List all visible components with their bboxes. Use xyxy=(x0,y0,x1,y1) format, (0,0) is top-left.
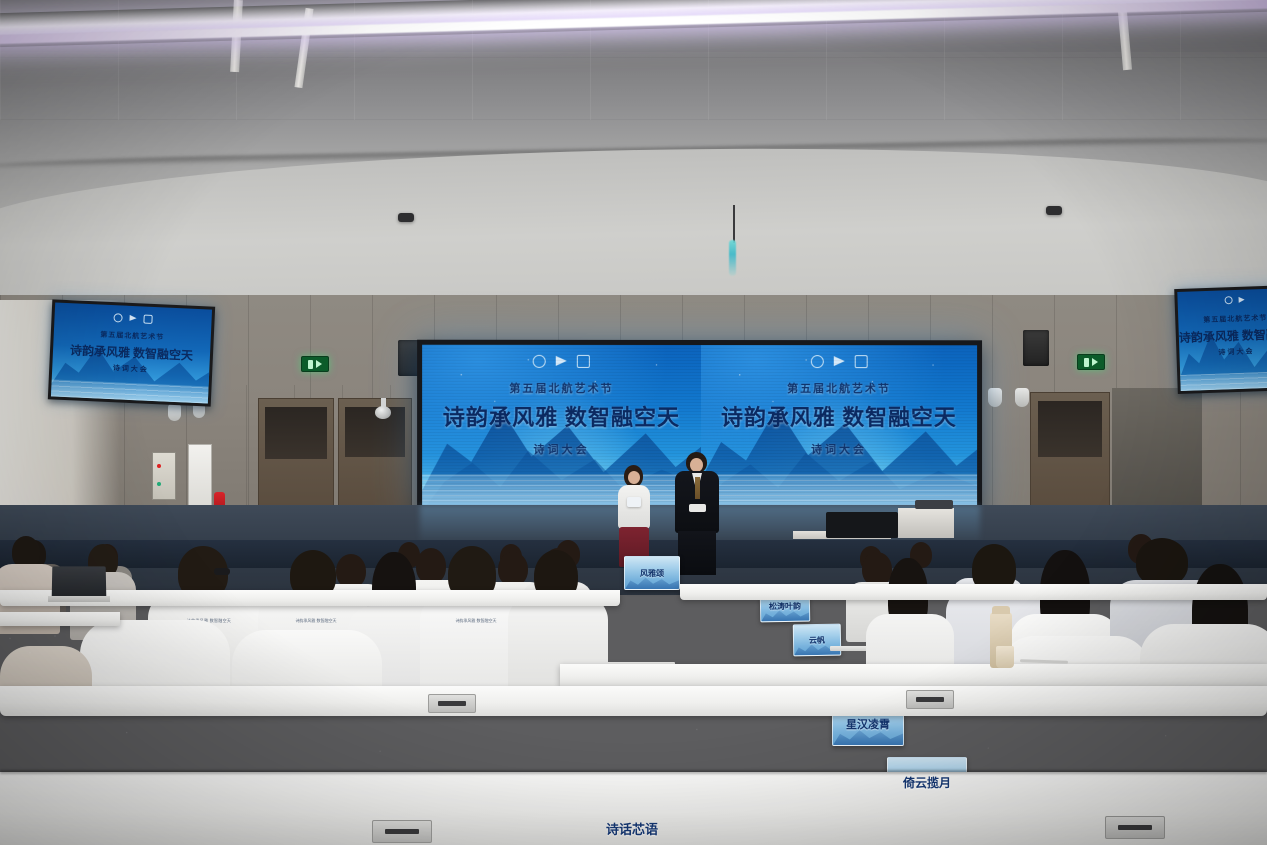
wall-whiteboard xyxy=(188,444,212,508)
eyeglasses-icon xyxy=(214,568,230,575)
door-left-glass xyxy=(265,407,327,459)
door-right-glass xyxy=(1038,401,1102,457)
wall-control-panel[interactable] xyxy=(152,452,176,500)
spotlight-3 xyxy=(168,404,181,421)
team-placard-3-text: 星汉凌霄 xyxy=(846,716,890,732)
paper-plane-logo-icon-3 xyxy=(129,315,136,321)
dome-camera-icon xyxy=(375,406,391,419)
power-port-module-2[interactable] xyxy=(906,690,954,709)
shirt-print: 诗韵承风雅 数智融空天 xyxy=(450,618,502,636)
ceiling-sensor-1 xyxy=(398,213,414,222)
ceiling xyxy=(0,0,1267,300)
right-monitor-water xyxy=(1180,371,1267,391)
circle-logo-icon-4 xyxy=(1224,296,1232,304)
host-male-face xyxy=(690,458,703,472)
main-screen-right-half: 第五届北航艺术节 诗韵承风雅 数智融空天 诗词大会 xyxy=(701,345,978,511)
screen-event-name-left: 诗词大会 xyxy=(422,441,700,457)
desk-row-1-front xyxy=(0,714,1267,776)
screen-logo-row-left xyxy=(422,355,700,368)
exit-arrow-icon xyxy=(316,360,322,368)
desk-row-3-right xyxy=(680,584,1267,600)
spotlight-2 xyxy=(1015,388,1029,407)
screen-slogan-right: 诗韵承风雅 数智融空天 xyxy=(701,400,978,432)
host-male-tie xyxy=(695,477,700,499)
speaker-right xyxy=(1023,330,1049,366)
team-placard-1-text: 诗话芯语 xyxy=(606,819,658,838)
paper-plane-logo-icon-2 xyxy=(834,357,845,367)
audience-head xyxy=(1136,538,1188,586)
team-placard-4-text: 倚云揽月 xyxy=(903,774,951,791)
desk-cup xyxy=(996,646,1014,668)
left-monitor-logos xyxy=(54,310,211,326)
main-screen-left-half: 第五届北航艺术节 诗韵承风雅 数智融空天 诗词大会 xyxy=(422,345,700,512)
desk-row-1-top xyxy=(0,686,1267,716)
thermos-cap xyxy=(992,606,1010,614)
badge-logo-icon xyxy=(577,355,590,368)
ceiling-hanging-cable xyxy=(733,205,735,243)
right-monitor-festival-line: 第五届北航艺术节 xyxy=(1178,312,1267,326)
badge-logo-icon-3 xyxy=(143,314,152,323)
right-monitor-panel: 第五届北航艺术节 诗韵承风雅 数智融空天 诗词大会 xyxy=(1177,288,1267,391)
team-placard-5-text: 风雅颂 xyxy=(640,568,664,579)
desk-row-2 xyxy=(560,664,1267,686)
power-port-module-3[interactable] xyxy=(372,820,432,843)
screen-festival-line-left: 第五届北航艺术节 xyxy=(422,380,700,396)
left-monitor-panel: 第五届北航艺术节 诗韵承风雅 数智融空天 诗词大会 xyxy=(51,302,212,403)
exit-sign-left xyxy=(301,356,329,372)
right-monitor-logos xyxy=(1178,294,1267,306)
screen-event-name-right: 诗词大会 xyxy=(701,441,978,457)
host-male-script-card xyxy=(689,504,706,512)
exit-sign-right xyxy=(1077,354,1105,370)
left-wall-monitor[interactable]: 第五届北航艺术节 诗韵承风雅 数智融空天 诗词大会 xyxy=(48,299,215,406)
desk-left-side-front xyxy=(0,624,100,672)
control-panel-led-red xyxy=(157,464,161,468)
power-port-module-4[interactable] xyxy=(1105,816,1165,839)
host-female-face xyxy=(628,471,640,484)
right-monitor-slogan: 诗韵承风雅 数智融空天 xyxy=(1179,325,1267,346)
circle-logo-icon-2 xyxy=(811,355,824,368)
power-port-module-1[interactable] xyxy=(428,694,476,713)
circle-logo-icon xyxy=(533,355,546,368)
host-female-script-card xyxy=(627,497,641,507)
right-wall-monitor[interactable]: 第五届北航艺术节 诗韵承风雅 数智融空天 诗词大会 xyxy=(1174,285,1267,394)
screen-logo-row-right xyxy=(701,355,978,368)
auditorium-scene: 第五届北航艺术节 诗韵承风雅 数智融空天 诗词大会 第五届北航艺术节 诗韵承风雅… xyxy=(0,0,1267,845)
spotlight-1 xyxy=(988,388,1002,407)
equipment-monitor xyxy=(915,500,953,509)
right-monitor-event-name: 诗词大会 xyxy=(1179,345,1267,359)
desk-row-0-shadow xyxy=(0,770,1267,774)
paper-plane-logo-icon xyxy=(556,356,567,366)
circle-logo-icon-3 xyxy=(113,313,122,322)
exit-arrow-icon-2 xyxy=(1092,358,1098,366)
badge-logo-icon-2 xyxy=(854,355,867,368)
laptop-base xyxy=(48,596,110,602)
screen-slogan-left: 诗韵承风雅 数智融空天 xyxy=(422,400,700,432)
paper-plane-logo-icon-4 xyxy=(1239,297,1245,303)
ceiling-hanging-ribbon xyxy=(729,240,736,276)
ceiling-sensor-2 xyxy=(1046,206,1062,215)
screen-festival-line-right: 第五届北航艺术节 xyxy=(701,380,978,396)
control-panel-led-green xyxy=(157,482,161,486)
exit-running-man-icon-2 xyxy=(1084,358,1089,367)
laptop[interactable] xyxy=(52,566,107,598)
exit-running-man-icon xyxy=(308,360,313,369)
